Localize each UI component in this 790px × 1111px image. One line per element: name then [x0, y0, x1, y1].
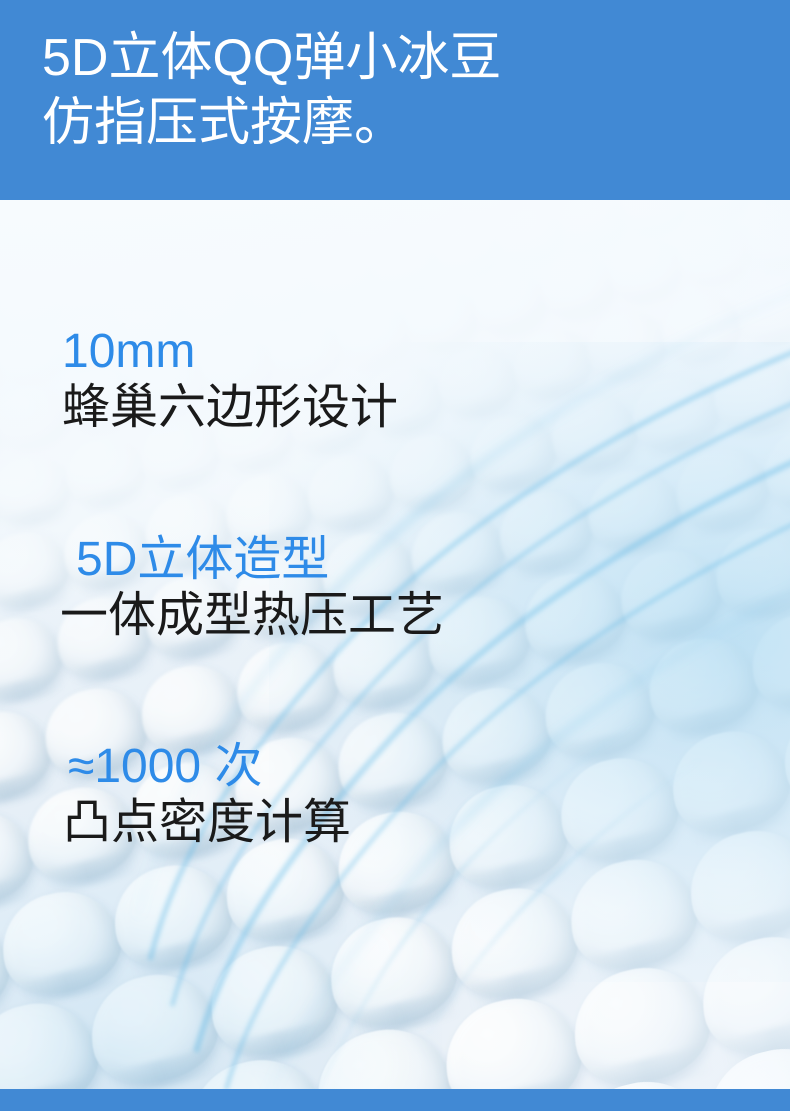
feature-block-shape: 5D立体造型 一体成型热压工艺	[76, 534, 444, 643]
feature-headline: 5D立体造型	[76, 534, 444, 586]
header-banner: 5D立体QQ弹小冰豆 仿指压式按摩。	[0, 0, 790, 200]
feature-headline: 10mm	[62, 326, 398, 378]
bottom-accent-bar	[0, 1089, 790, 1111]
page-title: 5D立体QQ弹小冰豆 仿指压式按摩。	[42, 26, 501, 156]
product-feature-page: 5D立体QQ弹小冰豆 仿指压式按摩。	[0, 0, 790, 1111]
feature-headline: ≈1000 次	[68, 741, 351, 793]
feature-subline: 凸点密度计算	[63, 796, 351, 850]
feature-subline: 蜂巢六边形设计	[62, 381, 398, 435]
feature-subline: 一体成型热压工艺	[60, 589, 444, 643]
feature-block-density: ≈1000 次 凸点密度计算	[68, 741, 351, 850]
feature-block-thickness: 10mm 蜂巢六边形设计	[62, 326, 398, 435]
